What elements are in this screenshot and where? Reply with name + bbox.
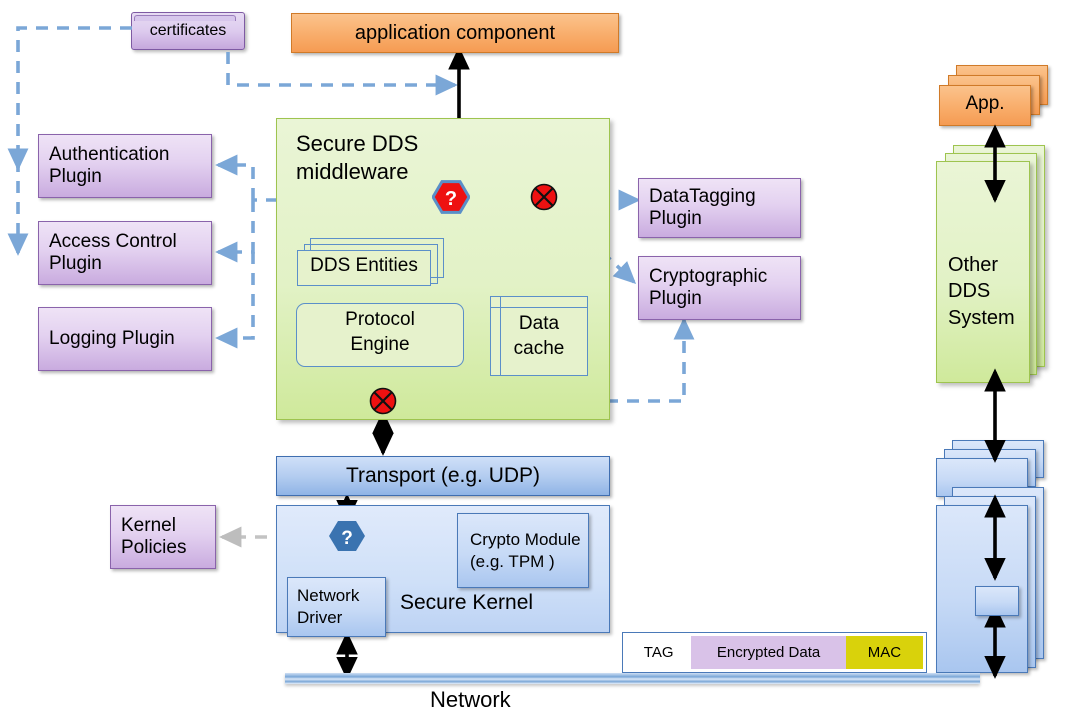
network-bus-line [285, 673, 980, 684]
architecture-diagram: certificates application component Authe… [0, 0, 1080, 719]
secure-kernel-label: Secure Kernel [400, 591, 600, 615]
network-driver-label: Network Driver [297, 585, 385, 629]
packet-segment-encrypted-data: Encrypted Data [691, 636, 845, 669]
certificates-box[interactable]: certificates [131, 12, 245, 50]
application-component-box[interactable]: application component [291, 13, 619, 53]
plugin-datatagging[interactable]: DataTagging Plugin [638, 178, 801, 238]
crypto-module-box[interactable]: Crypto Module (e.g. TPM ) [457, 513, 589, 588]
protocol-engine-label: Protocol Engine [296, 308, 464, 357]
application-component-label: application component [355, 22, 555, 45]
cryptographic-plugin-label: Cryptographic Plugin [649, 266, 790, 311]
datatagging-plugin-label: DataTagging Plugin [649, 186, 790, 231]
svg-text:?: ? [445, 188, 457, 210]
secure-dds-middleware-title: Secure DDS middleware [296, 130, 476, 186]
remote-kernel-driver-box[interactable] [975, 586, 1019, 616]
transport-box[interactable]: Transport (e.g. UDP) [276, 456, 610, 496]
link-certificates-to-middleware [228, 52, 455, 85]
link-hex-to-auth [218, 165, 253, 200]
svg-text:?: ? [341, 528, 353, 549]
crypto-transform-icon-top [530, 183, 558, 211]
sidebar-plugin-logging[interactable]: Logging Plugin [38, 307, 212, 371]
access-control-plugin-label: Access Control Plugin [49, 231, 201, 276]
dds-entities-label: DDS Entities [297, 255, 431, 277]
remote-app-label: App. [939, 93, 1031, 115]
link-hex-to-logging [218, 252, 253, 338]
authentication-plugin-label: Authentication Plugin [49, 144, 201, 189]
data-cache-inner-row [490, 307, 588, 308]
other-dds-label: Other DDS System [948, 252, 1042, 331]
auth-check-hexagon-icon: ? [432, 180, 470, 214]
kernel-policy-hexagon-icon: ? [328, 520, 366, 552]
data-cache-label: Data cache [490, 312, 588, 361]
transport-label: Transport (e.g. UDP) [346, 464, 540, 488]
sidebar-plugin-authentication[interactable]: Authentication Plugin [38, 134, 212, 198]
packet-segment-tag: TAG [626, 636, 691, 669]
kernel-policies-box[interactable]: Kernel Policies [110, 505, 216, 569]
packet-segment-mac: MAC [846, 636, 923, 669]
crypto-transform-icon-bottom [369, 387, 397, 415]
link-hex-to-access [218, 200, 253, 252]
sidebar-plugin-access-control[interactable]: Access Control Plugin [38, 221, 212, 285]
network-label: Network [430, 687, 630, 713]
certificates-label: certificates [132, 22, 244, 40]
kernel-policies-label: Kernel Policies [121, 515, 205, 560]
crypto-module-label: Crypto Module (e.g. TPM ) [470, 529, 588, 573]
logging-plugin-label: Logging Plugin [49, 328, 175, 350]
plugin-cryptographic[interactable]: Cryptographic Plugin [638, 256, 801, 320]
network-driver-box[interactable]: Network Driver [287, 577, 386, 637]
packet-format-bar[interactable]: TAG Encrypted Data MAC [622, 632, 927, 673]
certificates-tab [134, 15, 236, 21]
